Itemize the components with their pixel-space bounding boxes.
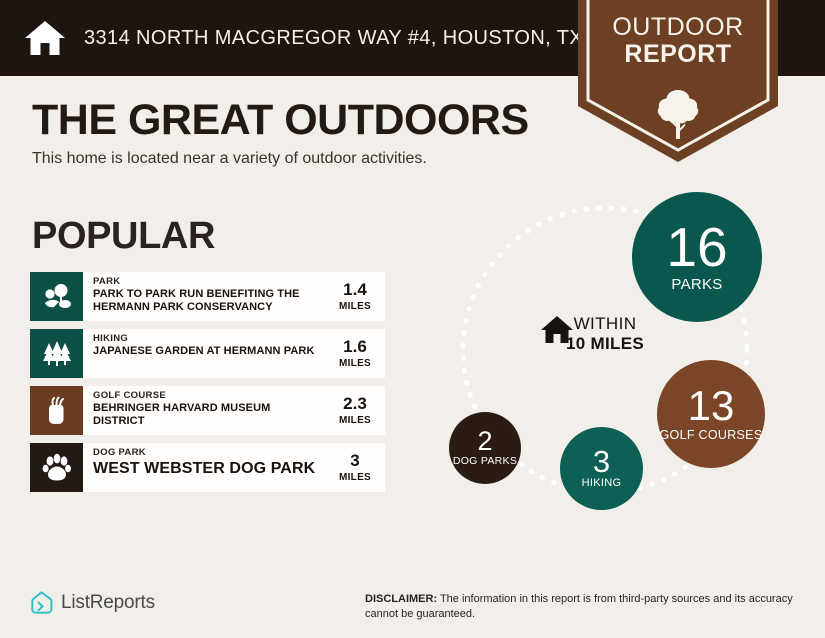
paw-print-icon <box>42 453 72 483</box>
list-item-title: WEST WEBSTER DOG PARK <box>93 459 325 478</box>
list-item[interactable]: DOG PARK WEST WEBSTER DOG PARK 3 MILES <box>30 443 385 492</box>
golf-bag-icon <box>44 396 70 426</box>
list-item-distance-unit: MILES <box>339 358 371 369</box>
bubble-parks-value: 16 <box>666 221 727 273</box>
listreports-pin-icon <box>30 590 54 616</box>
bubble-golf-courses[interactable]: 13 GOLF COURSES <box>657 360 765 468</box>
park-tree-icon <box>42 283 72 311</box>
list-item-distance-unit: MILES <box>339 472 371 483</box>
popular-list: PARK PARK TO PARK RUN BENEFITING THE HER… <box>30 272 385 500</box>
list-item-distance-value: 3 <box>350 452 359 469</box>
list-item-distance-unit: MILES <box>339 415 371 426</box>
list-item-distance-unit: MILES <box>339 301 371 312</box>
list-item-title: JAPANESE GARDEN AT HERMANN PARK <box>93 345 325 358</box>
list-item-body: HIKING JAPANESE GARDEN AT HERMANN PARK <box>83 329 329 378</box>
list-item[interactable]: GOLF COURSE BEHRINGER HARVARD MUSEUM DIS… <box>30 386 385 435</box>
listreports-logo[interactable]: ListReports <box>30 590 155 616</box>
list-item-icon-box <box>30 329 83 378</box>
bubble-hiking-value: 3 <box>593 447 610 476</box>
pine-trees-icon <box>41 340 73 368</box>
list-item-distance-value: 2.3 <box>343 395 367 412</box>
bubble-dog-parks-value: 2 <box>477 429 492 455</box>
list-item-category: PARK <box>93 277 325 288</box>
disclaimer: DISCLAIMER: The information in this repo… <box>365 592 795 622</box>
header-address: 3314 NORTH MACGREGOR WAY #4, HOUSTON, TX… <box>84 27 647 50</box>
within-10-miles-bubble-chart: 16 PARKS 13 GOLF COURSES 3 HIKING 2 DOG … <box>425 180 825 550</box>
list-item-icon-box <box>30 443 83 492</box>
list-item-title: PARK TO PARK RUN BENEFITING THE HERMANN … <box>93 288 325 314</box>
list-item[interactable]: PARK PARK TO PARK RUN BENEFITING THE HER… <box>30 272 385 321</box>
page-title: THE GREAT OUTDOORS <box>32 96 529 145</box>
chart-center-label: WITHIN 10 MILES <box>540 315 670 353</box>
listreports-logo-text: ListReports <box>61 592 155 614</box>
list-item-icon-box <box>30 272 83 321</box>
disclaimer-label: DISCLAIMER: <box>365 593 437 605</box>
list-item-distance: 1.6 MILES <box>329 329 385 378</box>
list-item-category: DOG PARK <box>93 448 325 459</box>
bubble-golf-value: 13 <box>688 386 735 426</box>
list-item-distance-value: 1.4 <box>343 281 367 298</box>
bubble-golf-label: GOLF COURSES <box>660 429 763 442</box>
list-item-icon-box <box>30 386 83 435</box>
list-item-distance: 1.4 MILES <box>329 272 385 321</box>
bubble-parks[interactable]: 16 PARKS <box>632 192 762 322</box>
list-item-distance: 2.3 MILES <box>329 386 385 435</box>
page-subtitle: This home is located near a variety of o… <box>32 150 427 168</box>
home-icon <box>540 315 574 345</box>
list-item[interactable]: HIKING JAPANESE GARDEN AT HERMANN PARK 1… <box>30 329 385 378</box>
list-item-body: DOG PARK WEST WEBSTER DOG PARK <box>83 443 329 492</box>
list-item-distance-value: 1.6 <box>343 338 367 355</box>
outdoor-report-badge: OUTDOOR REPORT <box>578 0 778 162</box>
tree-icon <box>656 88 700 140</box>
home-icon <box>24 18 66 58</box>
list-item-distance: 3 MILES <box>329 443 385 492</box>
list-item-category: GOLF COURSE <box>93 391 325 402</box>
list-item-title: BEHRINGER HARVARD MUSEUM DISTRICT <box>93 402 325 428</box>
bubble-dog-parks[interactable]: 2 DOG PARKS <box>449 412 521 484</box>
list-item-body: PARK PARK TO PARK RUN BENEFITING THE HER… <box>83 272 329 321</box>
list-item-category: HIKING <box>93 334 325 345</box>
list-item-body: GOLF COURSE BEHRINGER HARVARD MUSEUM DIS… <box>83 386 329 435</box>
popular-heading: POPULAR <box>32 215 215 258</box>
bubble-hiking-label: HIKING <box>582 478 622 490</box>
bubble-dog-parks-label: DOG PARKS <box>453 456 517 467</box>
bubble-parks-label: PARKS <box>671 277 722 293</box>
bubble-hiking[interactable]: 3 HIKING <box>560 427 643 510</box>
